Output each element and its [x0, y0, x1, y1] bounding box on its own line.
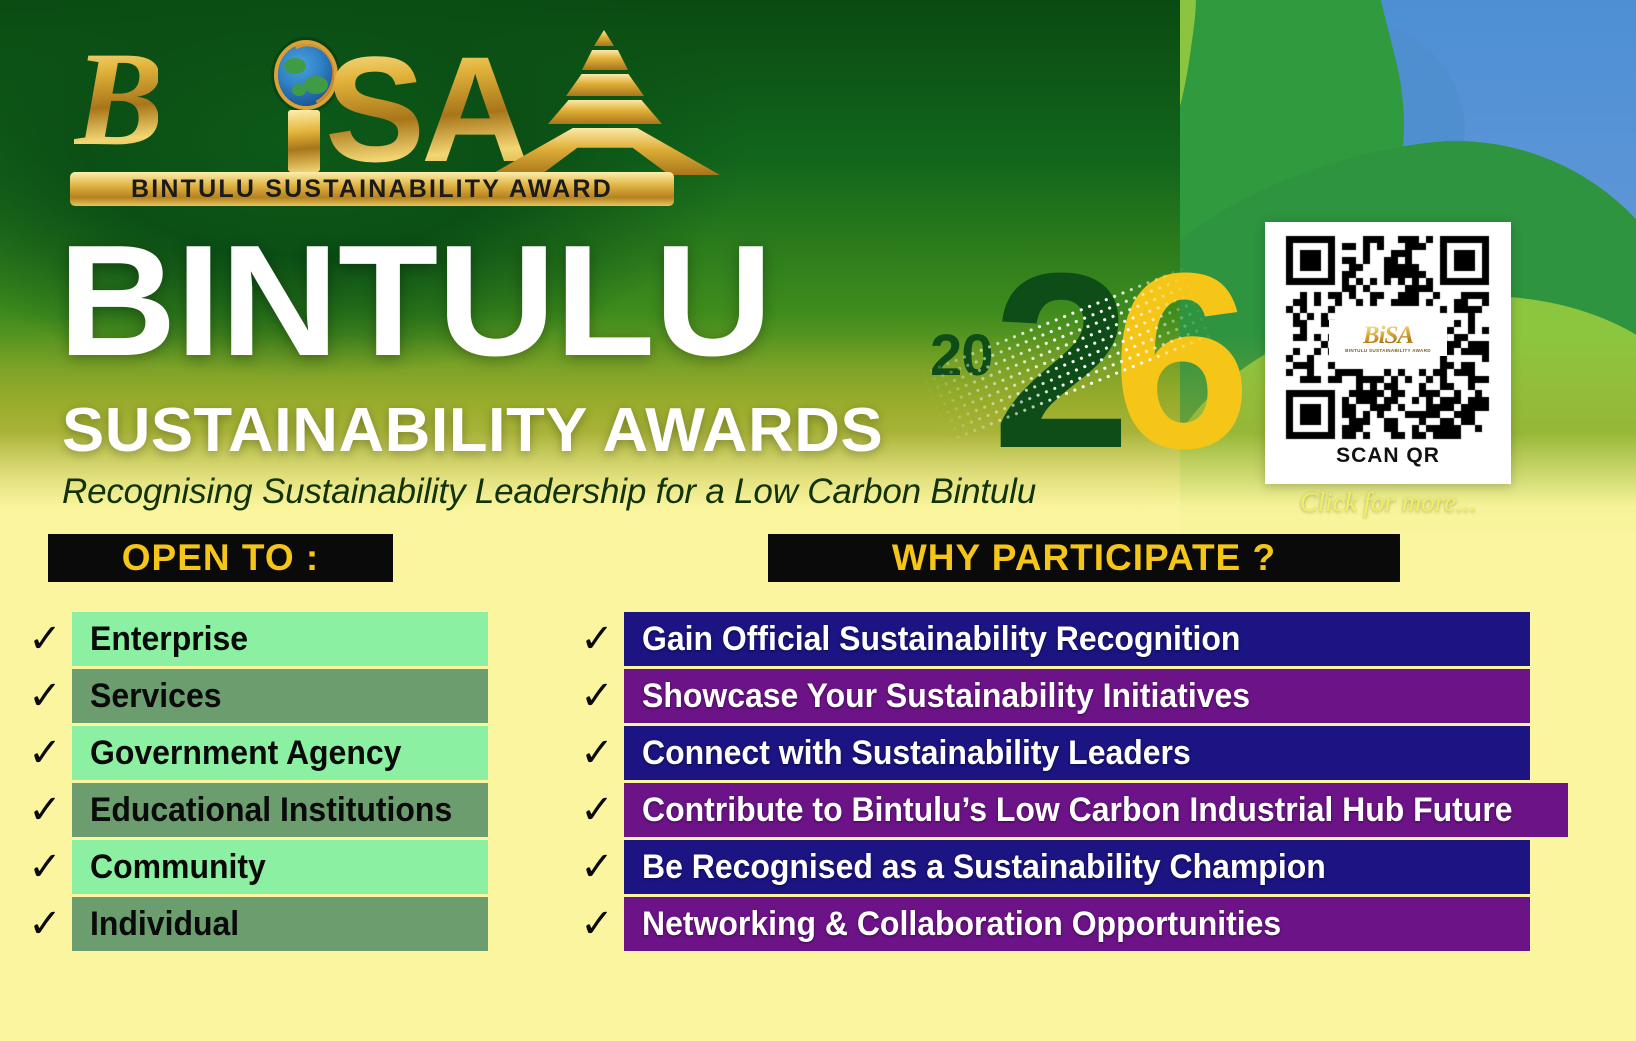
- bisa-logo[interactable]: B SA BINTULU SUSTAINABILITY AWARD: [70, 22, 680, 207]
- why-participate-item-pill: Be Recognised as a Sustainability Champi…: [624, 840, 1530, 894]
- list-item: ✓Gain Official Sustainability Recognitio…: [570, 612, 1530, 666]
- open-to-item-pill: Government Agency: [72, 726, 488, 780]
- year-digit-6: 6: [1112, 236, 1251, 486]
- qr-caption: SCAN QR: [1277, 444, 1499, 468]
- page-subtitle: SUSTAINABILITY AWARDS: [62, 400, 883, 462]
- qr-logo-letters: BiSA: [1363, 323, 1413, 348]
- qr-click-link[interactable]: Click for more...: [1265, 487, 1511, 518]
- open-to-item-pill: Services: [72, 669, 488, 723]
- year-badge: 6 2 20: [912, 240, 1222, 470]
- check-icon: ✓: [18, 783, 72, 837]
- qr-code-image[interactable]: BiSA BINTULU SUSTAINABILITY AWARD: [1277, 234, 1499, 442]
- open-to-item-label: Individual: [90, 907, 239, 941]
- year-digit-2: 2: [992, 236, 1131, 486]
- open-to-item-label: Enterprise: [90, 622, 248, 656]
- why-participate-list: ✓Gain Official Sustainability Recognitio…: [570, 612, 1530, 954]
- check-icon: ✓: [570, 783, 624, 837]
- list-item: ✓Connect with Sustainability Leaders: [570, 726, 1530, 780]
- qr-card[interactable]: BiSA BINTULU SUSTAINABILITY AWARD SCAN Q…: [1265, 222, 1511, 484]
- pyramid-tower-icon: [490, 30, 720, 175]
- why-participate-item-label: Gain Official Sustainability Recognition: [642, 622, 1240, 656]
- open-to-item-pill: Community: [72, 840, 488, 894]
- check-icon: ✓: [570, 726, 624, 780]
- open-to-item-label: Government Agency: [90, 736, 401, 770]
- why-participate-item-pill: Showcase Your Sustainability Initiatives: [624, 669, 1530, 723]
- why-participate-item-label: Be Recognised as a Sustainability Champi…: [642, 850, 1326, 884]
- logo-letter-i-stem: [288, 110, 320, 172]
- logo-mark: B SA: [70, 22, 680, 172]
- check-icon: ✓: [570, 840, 624, 894]
- list-item: ✓Educational Institutions: [18, 783, 488, 837]
- list-item: ✓Government Agency: [18, 726, 488, 780]
- page-title: BINTULU: [58, 222, 772, 380]
- check-icon: ✓: [570, 897, 624, 951]
- section-header-why-participate-label: WHY PARTICIPATE ?: [892, 537, 1276, 579]
- section-header-open-to: OPEN TO :: [48, 534, 393, 582]
- why-participate-item-pill: Gain Official Sustainability Recognition: [624, 612, 1530, 666]
- list-item: ✓Contribute to Bintulu’s Low Carbon Indu…: [570, 783, 1530, 837]
- why-participate-item-label: Showcase Your Sustainability Initiatives: [642, 679, 1250, 713]
- poster-root: B SA BINTULU SUSTAINABILITY AWARD BINTUL…: [0, 0, 1636, 1041]
- why-participate-item-pill: Networking & Collaboration Opportunities: [624, 897, 1530, 951]
- open-to-item-label: Services: [90, 679, 222, 713]
- tagline: Recognising Sustainability Leadership fo…: [62, 472, 1036, 512]
- list-item: ✓Networking & Collaboration Opportunitie…: [570, 897, 1530, 951]
- list-item: ✓Enterprise: [18, 612, 488, 666]
- list-item: ✓Be Recognised as a Sustainability Champ…: [570, 840, 1530, 894]
- why-participate-item-label: Contribute to Bintulu’s Low Carbon Indus…: [642, 793, 1513, 827]
- check-icon: ✓: [570, 669, 624, 723]
- open-to-item-pill: Educational Institutions: [72, 783, 488, 837]
- qr-logo-subtitle: BINTULU SUSTAINABILITY AWARD: [1345, 349, 1431, 354]
- logo-ribbon-label: BINTULU SUSTAINABILITY AWARD: [131, 175, 613, 204]
- qr-embedded-logo: BiSA BINTULU SUSTAINABILITY AWARD: [1329, 320, 1447, 356]
- list-item: ✓Showcase Your Sustainability Initiative…: [570, 669, 1530, 723]
- open-to-item-pill: Individual: [72, 897, 488, 951]
- check-icon: ✓: [570, 612, 624, 666]
- logo-letter-b: B: [74, 32, 158, 167]
- check-icon: ✓: [18, 840, 72, 894]
- section-header-why-participate: WHY PARTICIPATE ?: [768, 534, 1400, 582]
- open-to-list: ✓Enterprise✓Services✓Government Agency✓E…: [18, 612, 488, 954]
- why-participate-item-label: Connect with Sustainability Leaders: [642, 736, 1191, 770]
- open-to-item-pill: Enterprise: [72, 612, 488, 666]
- check-icon: ✓: [18, 897, 72, 951]
- why-participate-item-pill: Connect with Sustainability Leaders: [624, 726, 1530, 780]
- open-to-item-label: Educational Institutions: [90, 793, 452, 827]
- list-item: ✓Services: [18, 669, 488, 723]
- check-icon: ✓: [18, 726, 72, 780]
- list-item: ✓Individual: [18, 897, 488, 951]
- check-icon: ✓: [18, 612, 72, 666]
- open-to-item-label: Community: [90, 850, 266, 884]
- section-header-open-to-label: OPEN TO :: [122, 537, 319, 579]
- why-participate-item-pill: Contribute to Bintulu’s Low Carbon Indus…: [624, 783, 1568, 837]
- why-participate-item-label: Networking & Collaboration Opportunities: [642, 907, 1281, 941]
- year-prefix: 20: [930, 322, 993, 389]
- list-item: ✓Community: [18, 840, 488, 894]
- logo-ribbon: BINTULU SUSTAINABILITY AWARD: [70, 172, 674, 206]
- check-icon: ✓: [18, 669, 72, 723]
